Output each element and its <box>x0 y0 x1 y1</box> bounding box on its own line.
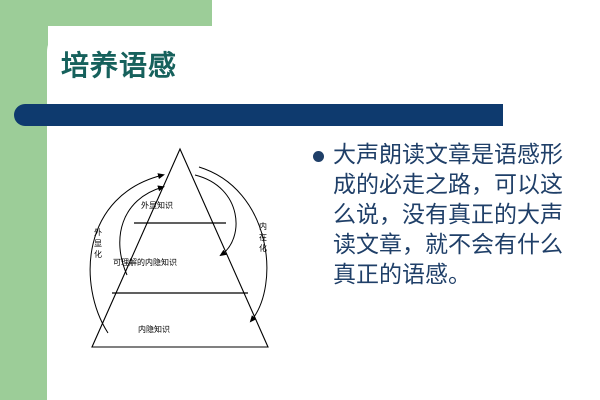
pyramid-outline <box>92 149 268 347</box>
page-title: 培养语感 <box>61 48 177 84</box>
bullet-item-text: 大声朗读文章是语感形成的必走之路，可以这么说，没有真正的大声读文章，就不会有什么… <box>333 140 565 290</box>
bullet-dot-icon <box>313 151 324 162</box>
pyramid-side-label-right: 内在化 <box>258 221 268 254</box>
slide-canvas: 培养语感 外显知识 可理解的内隐知识 内 <box>0 0 600 400</box>
arrow-right-inner <box>195 175 236 255</box>
bullet-list: 大声朗读文章是语感形成的必走之路，可以这么说，没有真正的大声读文章，就不会有什么… <box>313 140 593 290</box>
green-left-band-decoration <box>0 0 48 400</box>
green-top-band-decoration <box>0 0 212 26</box>
pyramid-side-label-left: 外显化 <box>93 227 103 260</box>
knowledge-conversion-pyramid-diagram: 外显知识 可理解的内隐知识 内隐知识 外显化 内在化 <box>75 135 290 380</box>
pyramid-band-label-bottom: 内隐知识 <box>138 324 170 335</box>
pyramid-band-label-middle: 可理解的内隐知识 <box>113 257 177 268</box>
pyramid-band-label-top: 外显知识 <box>141 200 173 211</box>
title-underline-bar-decoration <box>14 104 503 126</box>
pyramid-svg <box>75 135 290 380</box>
arrow-right-outer <box>199 167 267 321</box>
